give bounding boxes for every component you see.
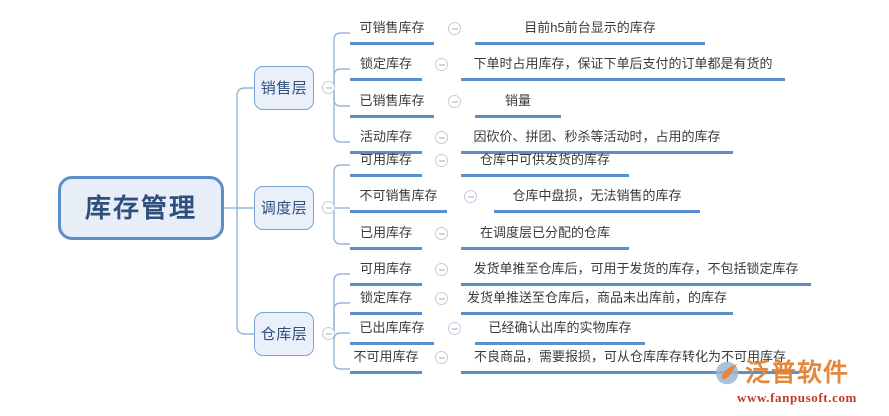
leaf-term: 已出库库存 — [350, 318, 434, 345]
leaf-term: 可用库存 — [350, 150, 422, 177]
root-node[interactable]: 库存管理 — [58, 176, 224, 240]
branch-node-sales[interactable]: 销售层 — [254, 66, 314, 110]
leaf-term: 锁定库存 — [350, 54, 422, 81]
leaf-desc: 仓库中盘损，无法销售的库存 — [494, 186, 700, 213]
root-node-label: 库存管理 — [85, 195, 197, 221]
leaf-term: 已销售库存 — [350, 91, 434, 118]
leaf-row[interactable]: 已出库库存 已经确认出库的实物库存 — [350, 318, 645, 348]
leaf-collapse-icon[interactable] — [464, 190, 477, 203]
leaf-collapse-icon[interactable] — [435, 227, 448, 240]
branch-node-dispatch[interactable]: 调度层 — [254, 186, 314, 230]
leaf-row[interactable]: 已用库存 在调度层已分配的仓库 — [350, 223, 629, 253]
leaf-collapse-icon[interactable] — [435, 131, 448, 144]
leaf-desc: 销量 — [475, 91, 561, 118]
leaf-collapse-icon[interactable] — [448, 95, 461, 108]
leaf-collapse-icon[interactable] — [435, 351, 448, 364]
leaf-term: 锁定库存 — [350, 288, 422, 315]
leaf-desc: 发货单推送至仓库后，商品未出库前，的库存 — [461, 288, 733, 315]
branch-node-sales-label: 销售层 — [261, 81, 308, 96]
collapse-toggle-sales-icon[interactable] — [322, 81, 335, 94]
watermark-url-text: www.fanpusoft.com — [713, 390, 881, 406]
leaf-collapse-icon[interactable] — [435, 58, 448, 71]
branch-node-warehouse[interactable]: 仓库层 — [254, 312, 314, 356]
leaf-collapse-icon[interactable] — [448, 322, 461, 335]
leaf-term: 已用库存 — [350, 223, 422, 250]
leaf-term: 可销售库存 — [350, 18, 434, 45]
leaf-collapse-icon[interactable] — [435, 154, 448, 167]
leaf-collapse-icon[interactable] — [448, 22, 461, 35]
leaf-row[interactable]: 不可销售库存 仓库中盘损，无法销售的库存 — [350, 186, 700, 216]
leaf-desc: 不良商品，需要报损，可从仓库库存转化为不可用库存 — [461, 347, 799, 374]
leaf-desc: 仓库中可供发货的库存 — [461, 150, 629, 177]
leaf-row[interactable]: 锁定库存 下单时占用库存，保证下单后支付的订单都是有货的 — [350, 54, 785, 84]
leaf-row[interactable]: 已销售库存 销量 — [350, 91, 561, 121]
branch-node-dispatch-label: 调度层 — [261, 201, 308, 216]
leaf-row[interactable]: 可用库存 仓库中可供发货的库存 — [350, 150, 629, 180]
leaf-desc: 发货单推至仓库后，可用于发货的库存，不包括锁定库存 — [461, 259, 811, 286]
leaf-term: 可用库存 — [350, 259, 422, 286]
leaf-desc: 下单时占用库存，保证下单后支付的订单都是有货的 — [461, 54, 785, 81]
leaf-desc: 目前h5前台显示的库存 — [475, 18, 705, 45]
branch-node-warehouse-label: 仓库层 — [261, 327, 308, 342]
collapse-toggle-dispatch-icon[interactable] — [322, 201, 335, 214]
leaf-row[interactable]: 可销售库存 目前h5前台显示的库存 — [350, 18, 705, 48]
leaf-row[interactable]: 锁定库存 发货单推送至仓库后，商品未出库前，的库存 — [350, 288, 733, 318]
leaf-collapse-icon[interactable] — [435, 292, 448, 305]
leaf-row[interactable]: 可用库存 发货单推至仓库后，可用于发货的库存，不包括锁定库存 — [350, 259, 811, 289]
mindmap-canvas: 库存管理 销售层 调度层 仓库层 可销售库存 目前h5前台显示的库存 锁定库存 … — [0, 0, 889, 416]
collapse-toggle-warehouse-icon[interactable] — [322, 327, 335, 340]
leaf-term: 不可销售库存 — [350, 186, 447, 213]
leaf-desc: 在调度层已分配的仓库 — [461, 223, 629, 250]
leaf-term: 不可用库存 — [350, 347, 422, 374]
leaf-collapse-icon[interactable] — [435, 263, 448, 276]
leaf-row[interactable]: 不可用库存 不良商品，需要报损，可从仓库库存转化为不可用库存 — [350, 347, 799, 377]
leaf-desc: 已经确认出库的实物库存 — [475, 318, 645, 345]
